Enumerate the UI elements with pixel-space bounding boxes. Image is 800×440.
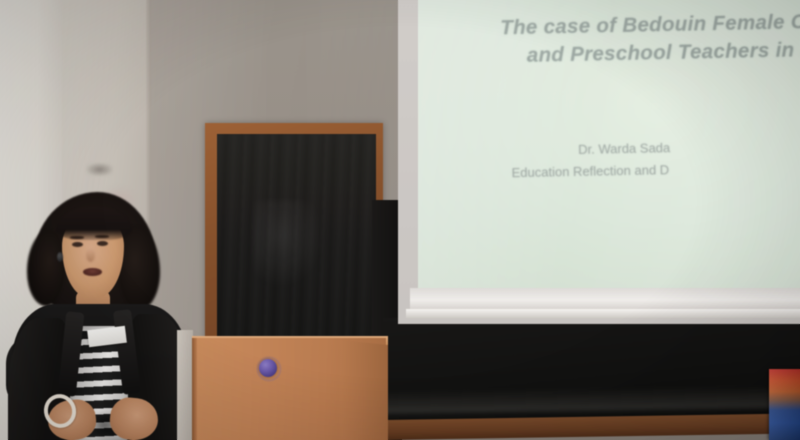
lecture-photo-scene: The case of Bedouin Female Col and Presc… [0, 0, 800, 440]
eyebrow-right [95, 235, 109, 238]
mouth [83, 268, 102, 276]
wall-smudge-mark [86, 163, 113, 176]
colorful-poster [769, 369, 800, 440]
projection-screen-bottom-bar [410, 288, 800, 310]
slide-title-line-2: and Preschool Teachers in Ka [501, 34, 800, 71]
blackboard-surface [217, 134, 376, 355]
slide-byline: Dr. Warda Sada Education Reflection and … [418, 130, 800, 186]
slide-title: The case of Bedouin Female Col and Presc… [418, 6, 800, 72]
slide-content: The case of Bedouin Female Col and Presc… [418, 0, 800, 289]
hair-curl-right [118, 226, 160, 310]
eye-left [72, 242, 83, 247]
lectern-emblem-icon [259, 359, 277, 377]
nose [86, 248, 95, 262]
presenter [0, 186, 200, 440]
lectern-left-edge [192, 338, 197, 440]
framed-blackboard [205, 123, 383, 355]
slide-byline-line-1: Dr. Warda Sada [578, 140, 670, 157]
chalk-dust [383, 385, 800, 414]
earring [57, 252, 63, 262]
projection-screen: The case of Bedouin Female Col and Presc… [398, 0, 800, 324]
podium-side-gap [177, 330, 193, 440]
poster-sheen [769, 369, 800, 440]
wall-blackboard [383, 311, 800, 422]
eyebrow-left [70, 236, 84, 239]
chalk-smudge [252, 200, 325, 288]
eye-right [97, 241, 108, 246]
lectern-right-face [340, 340, 388, 440]
slide-title-line-1: The case of Bedouin Female Col [500, 10, 800, 40]
slide-byline-line-2: Education Reflection and D [511, 152, 800, 184]
projection-screen-lip [406, 309, 800, 318]
